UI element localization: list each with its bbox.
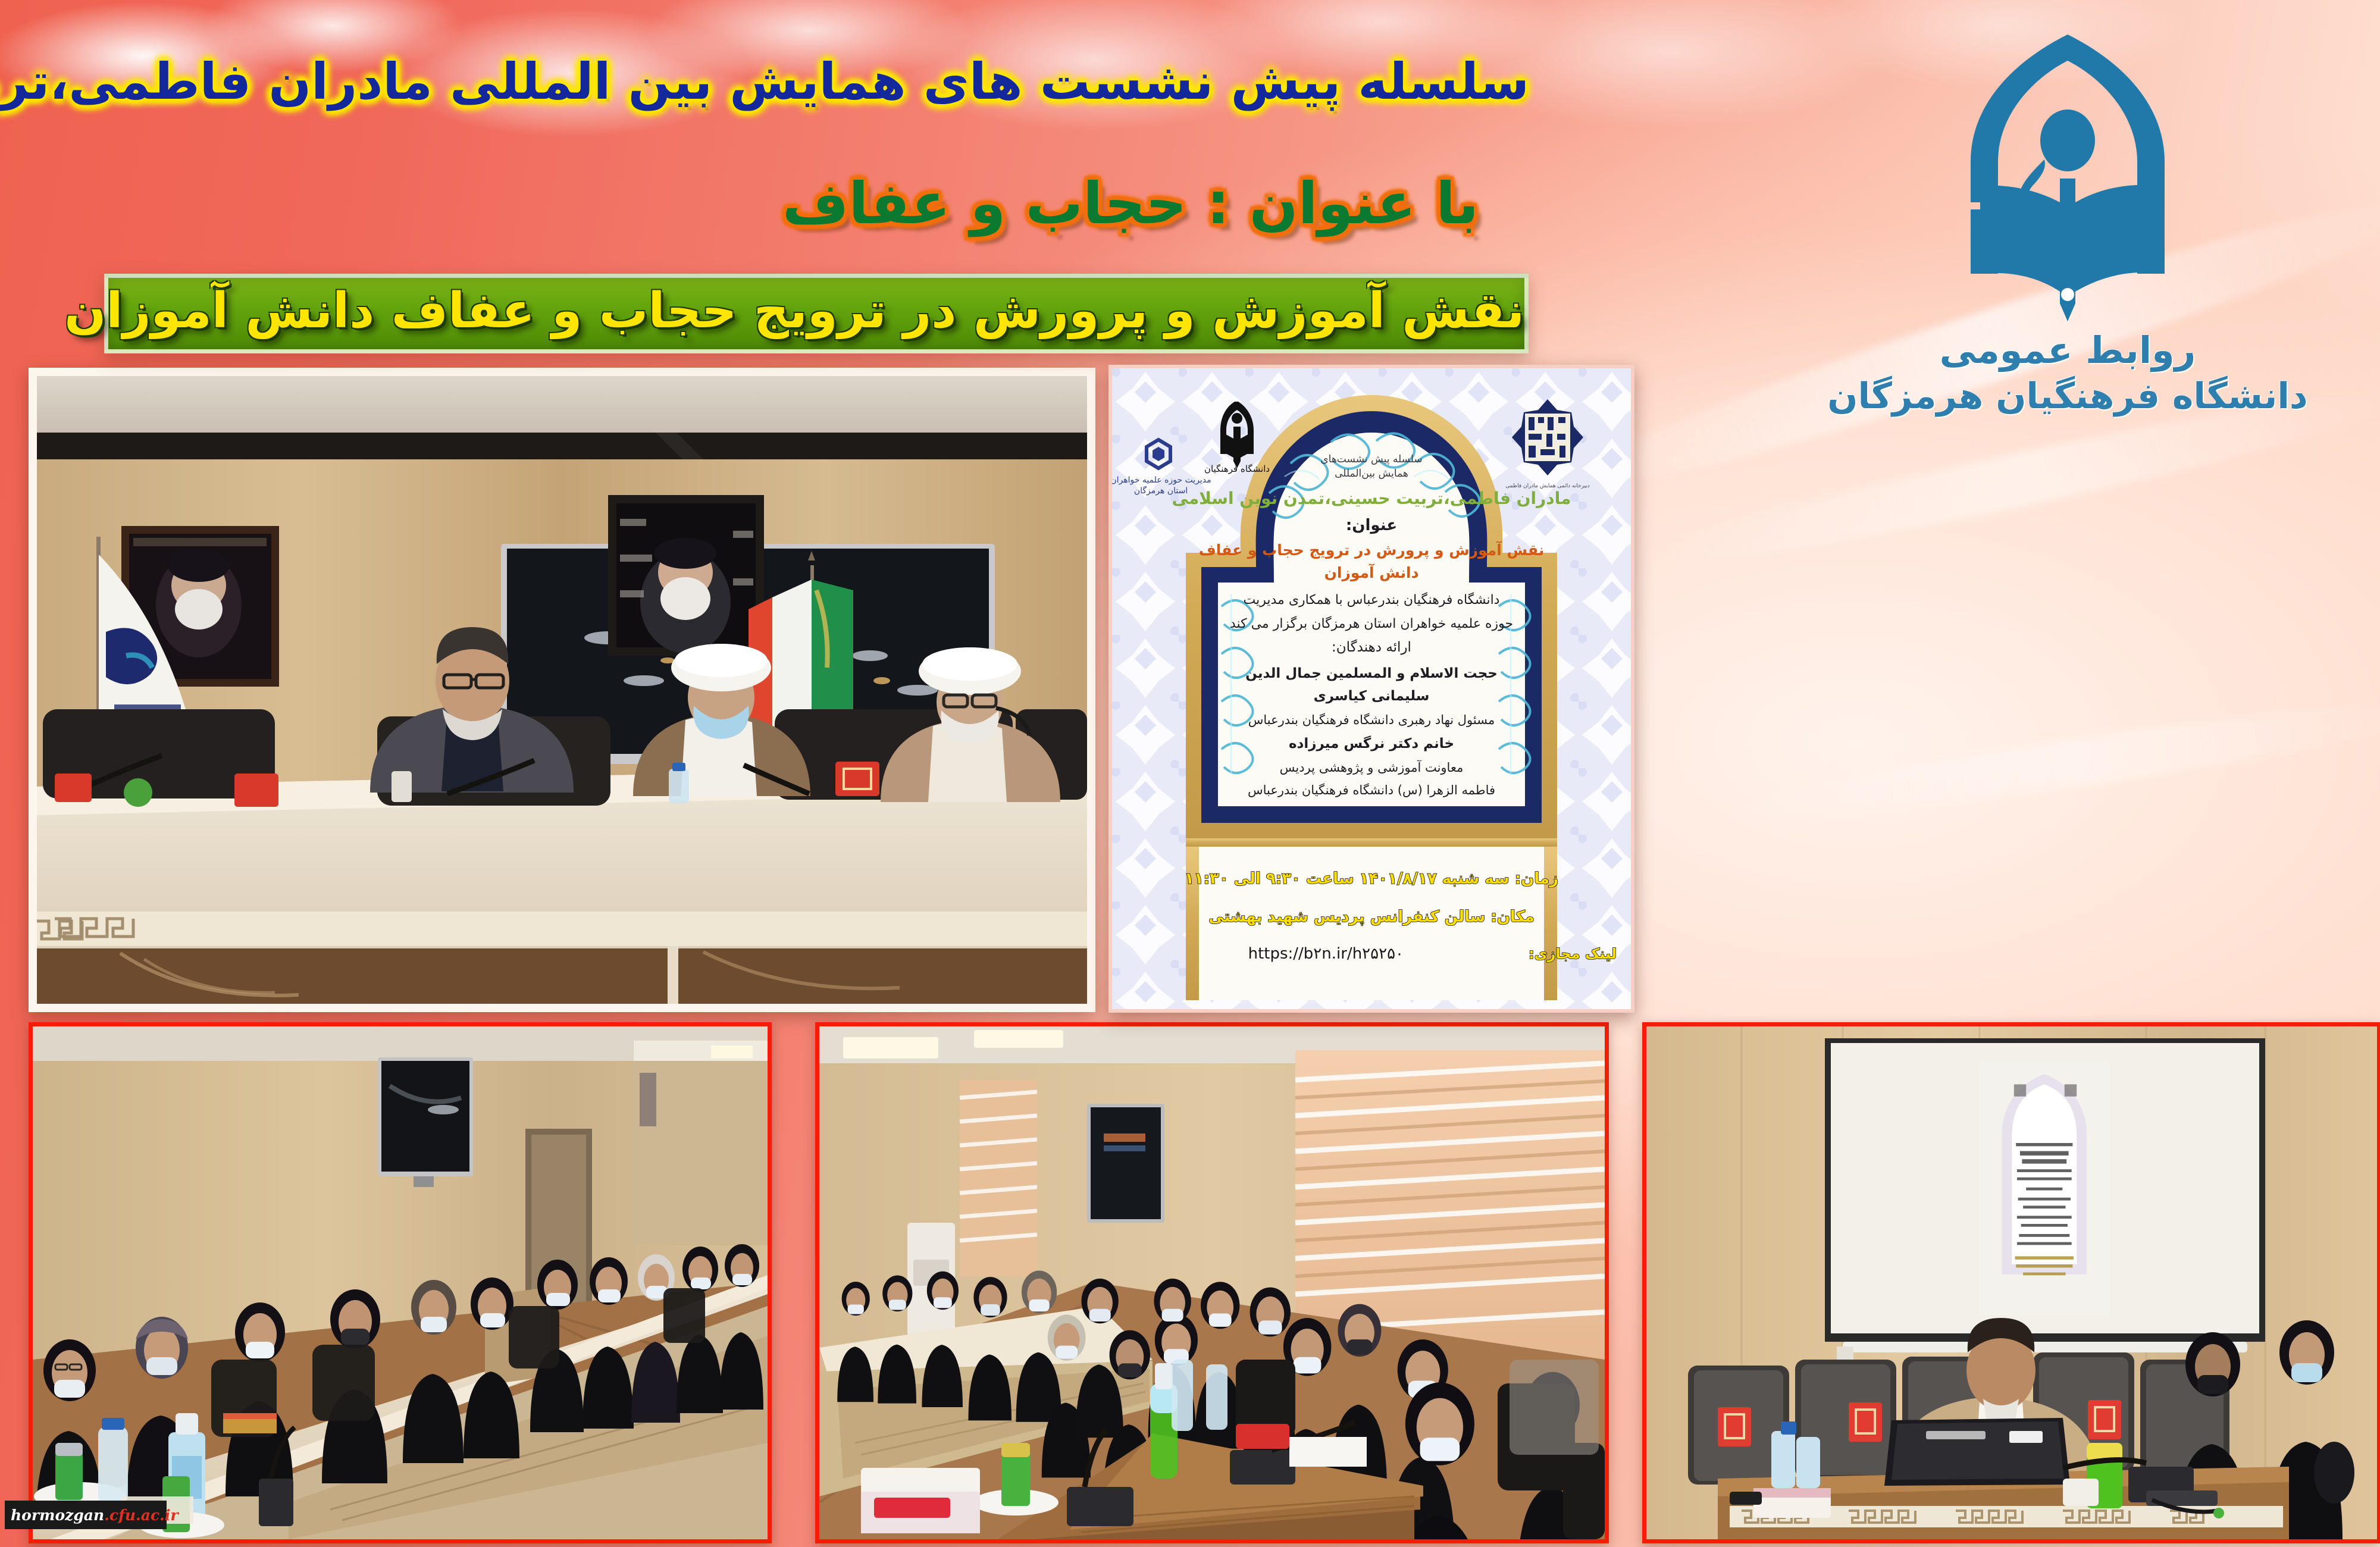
poster-link-url: https://b۲n.ir/h۲۵۲۵۰: [1248, 945, 1404, 963]
audience-wide-photo: [815, 1022, 1609, 1543]
poster-series-line-1: سلسله پیش نشست‌های: [1320, 453, 1422, 465]
main-title-line-2: با عنوان : حجاب و عفاف: [714, 165, 1547, 243]
watermark-domain: hormozgan: [11, 1507, 104, 1524]
poster-presenter-1-line-2: سلیمانی کیاسری: [1314, 688, 1430, 704]
main-title-line-1: سلسله پیش نشست های همایش بین المللی مادر…: [65, 46, 1529, 118]
audience-left-photo: [29, 1022, 772, 1543]
poster-title-line-1: نقش آموزش و پرورش در ترویج حجاب و عفاف: [1199, 541, 1545, 559]
svg-text:مدیریت حوزه علمیه خواهران: مدیریت حوزه علمیه خواهران: [1112, 475, 1211, 485]
poster-place: مکان: سالن کنفرانس پردیس شهید بهشتی: [1208, 908, 1535, 926]
svg-text:دانشگاه فرهنگیان: دانشگاه فرهنگیان: [1204, 464, 1270, 474]
head-table-panel-photo: [29, 368, 1095, 1012]
poster-presenter-1-role: مسئول نهاد رهبری دانشگاه فرهنگیان بندرعب…: [1248, 713, 1495, 727]
poster-organizer-line-1: دانشگاه فرهنگیان بندرعباس با همکاری مدیر…: [1244, 592, 1500, 607]
topic-banner: نقش آموزش و پرورش در ترویج حجاب و عفاف د…: [104, 274, 1529, 353]
poster-title-line-2: دانش آموزان: [1324, 563, 1419, 582]
site-watermark: hormozgan.cfu.ac.ir: [5, 1501, 167, 1529]
topic-banner-text: نقش آموزش و پرورش در ترویج حجاب و عفاف د…: [108, 278, 1524, 349]
logo-caption-public-relations: روابط عمومی: [1940, 328, 2196, 372]
logo-caption-university: دانشگاه فرهنگیان هرمزگان: [1827, 375, 2307, 417]
university-logo-block: روابط عمومی دانشگاه فرهنگیان هرمزگان: [1773, 24, 2362, 452]
cfu-arch-book-logo-icon: [1928, 24, 2207, 321]
poster-series-line-2: همایش بین‌المللی: [1335, 468, 1408, 480]
event-poster: دانشگاه فرهنگیان مدیریت حوزه علمیه خواهر…: [1108, 365, 1634, 1013]
poster-presenter-2-role-1: معاونت آموزشی و پژوهشی پردیس: [1280, 760, 1464, 775]
projector-presenter-photo: [1642, 1022, 2380, 1543]
poster-canvas: سلسله پیش نشست های همایش بین المللی مادر…: [0, 0, 2380, 1547]
poster-presenter-2-role-2: فاطمه الزهرا (س) دانشگاه فرهنگیان بندرعب…: [1248, 783, 1495, 797]
poster-series-line-3: مادران فاطمی،تربیت حسینی،تمدن نوین اسلام…: [1172, 488, 1571, 508]
poster-organizer-line-2: حوزه علمیه خواهران استان هرمزگان برگزار …: [1230, 616, 1513, 631]
poster-time: زمان: سه شنبه ۱۴۰۱/۸/۱۷ ساعت ۹:۳۰ الی ۱۱…: [1185, 870, 1558, 888]
poster-label-presenters: ارائه دهندگان:: [1332, 639, 1411, 655]
poster-presenter-1-line-1: حجت الاسلام و المسلمین جمال الدین: [1245, 666, 1498, 681]
poster-link-label: لینک مجازی:: [1529, 945, 1617, 962]
watermark-suffix: .cfu.ac.ir: [104, 1507, 178, 1524]
poster-label-title: عنوان:: [1346, 516, 1397, 534]
poster-presenter-2-name: خانم دکتر نرگس میرزاده: [1289, 735, 1454, 751]
